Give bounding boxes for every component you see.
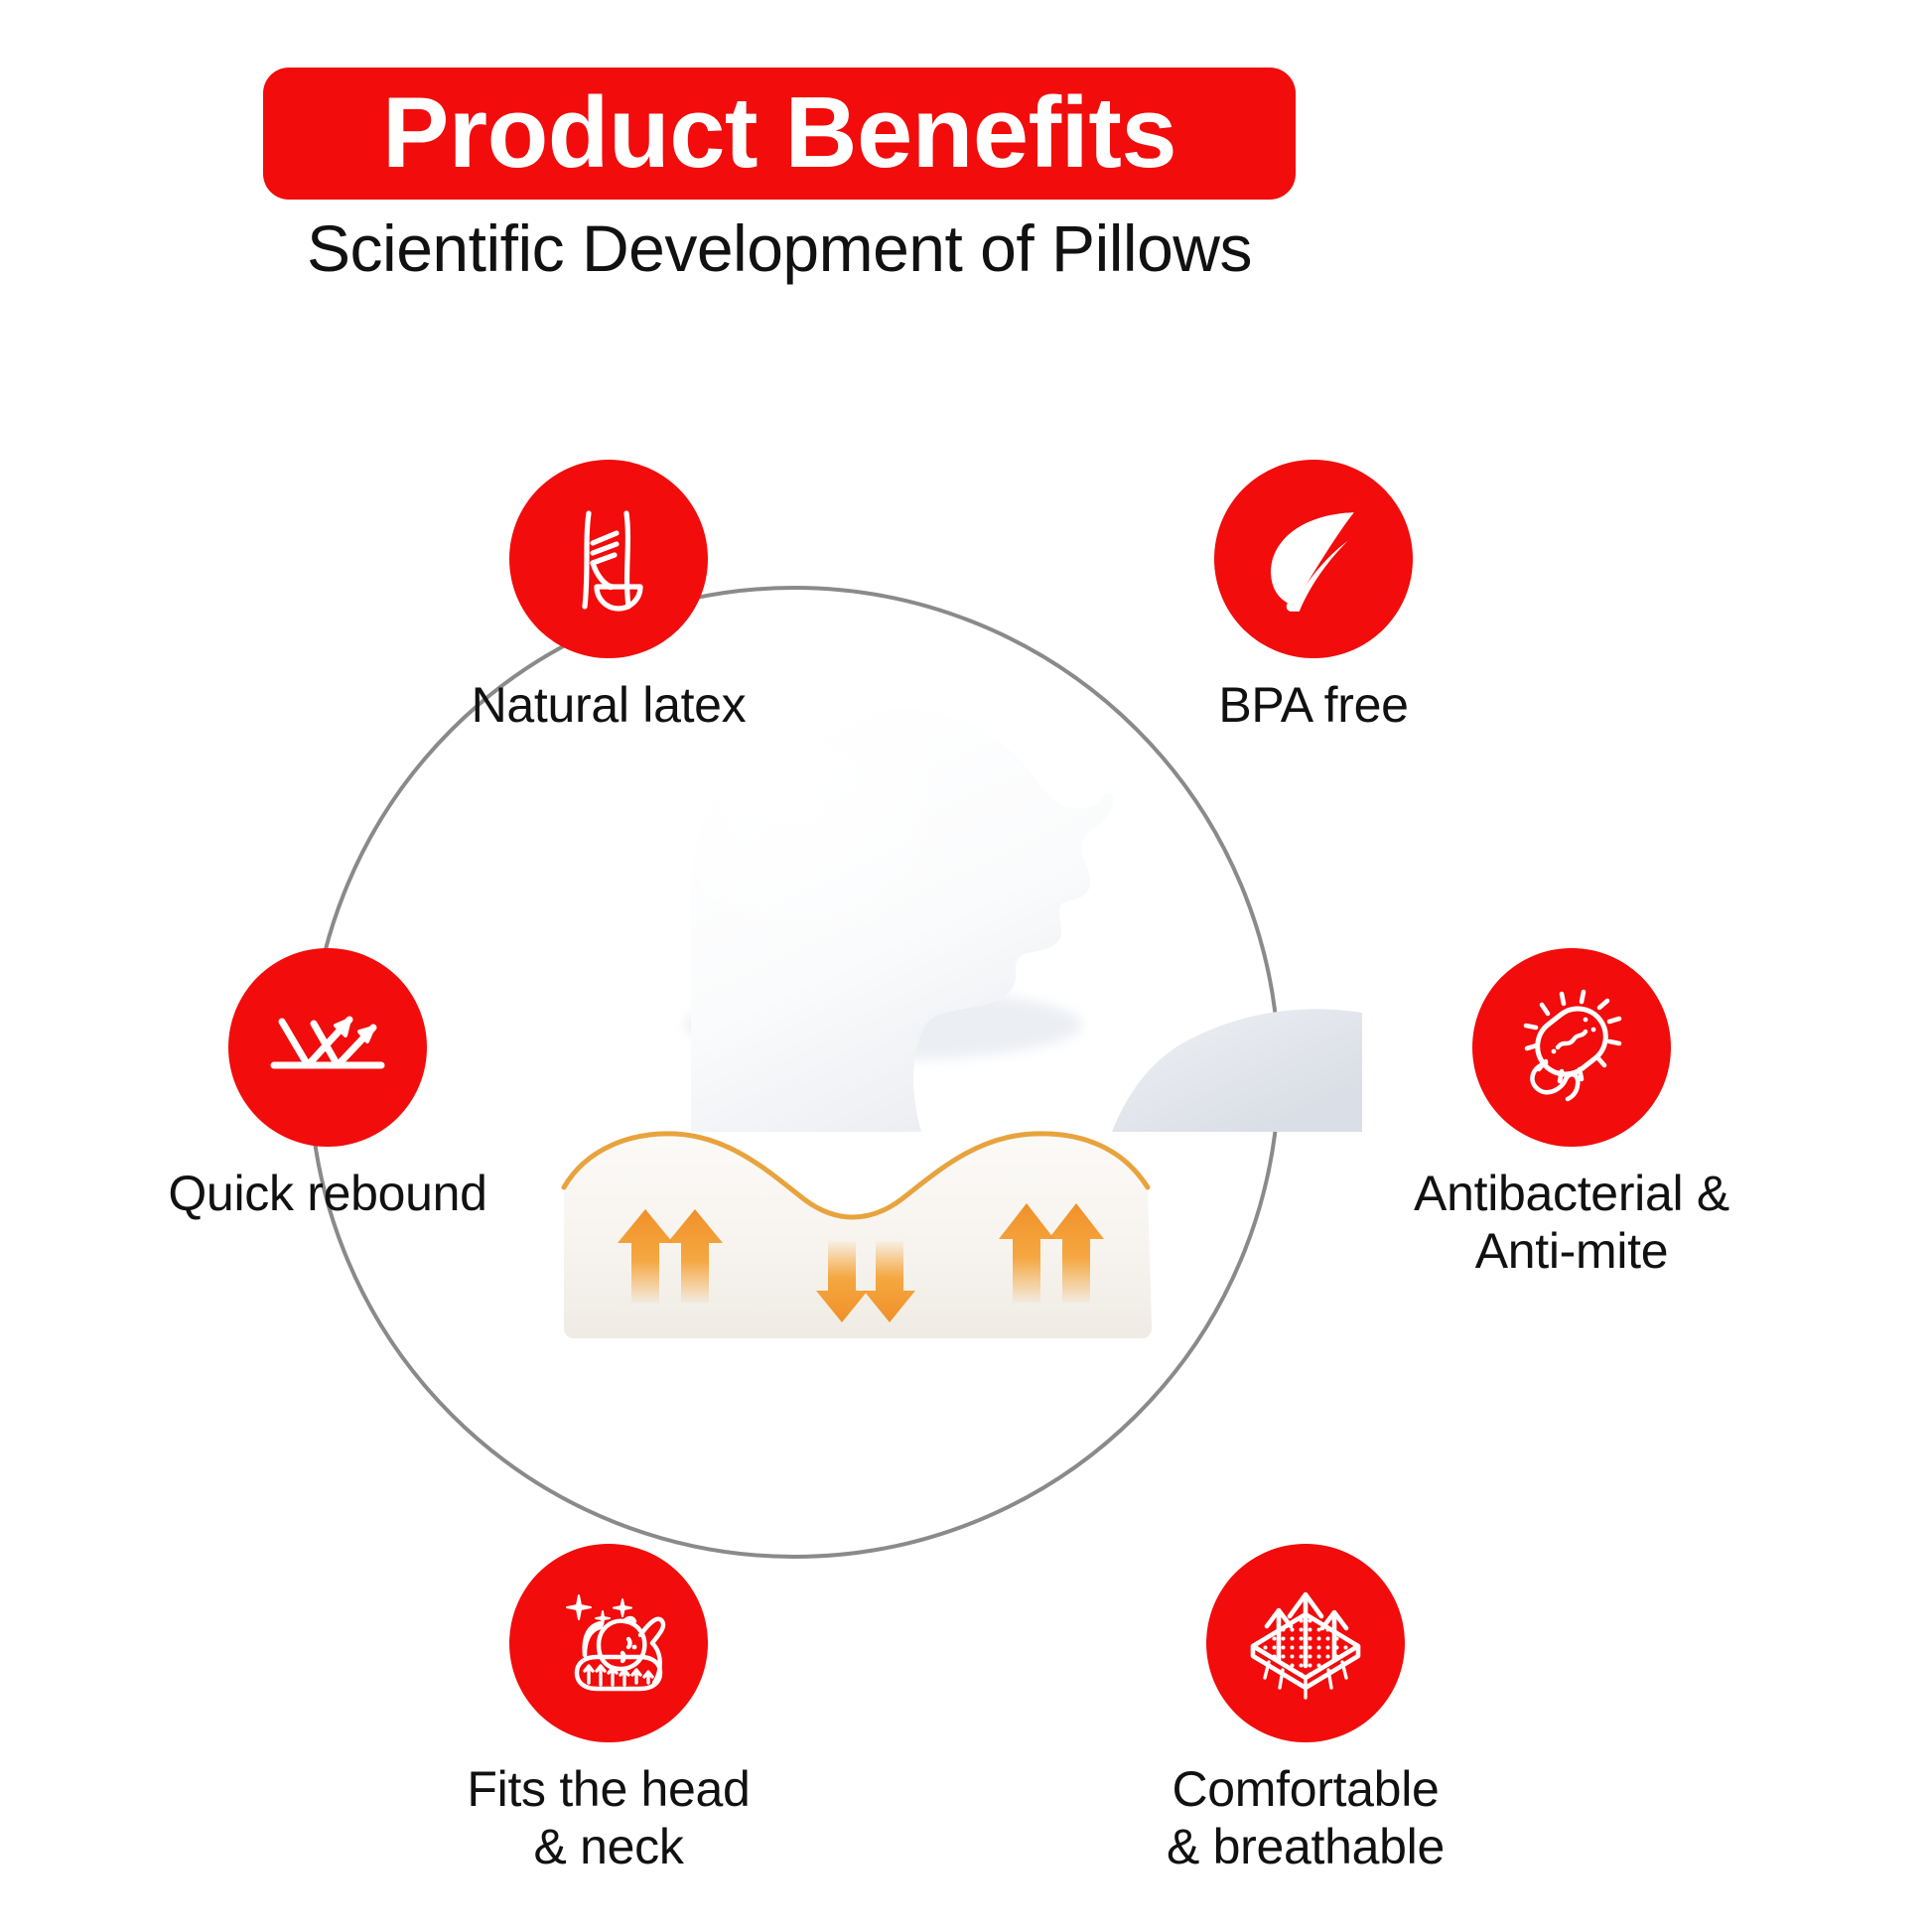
breathable-mesh-airflow-icon: [1243, 1581, 1368, 1706]
benefit-wheel: Natural latex BPA free: [0, 0, 1932, 1932]
sleeping-head-on-pillow-icon: [545, 1580, 672, 1707]
quick-rebound-bubble[interactable]: [228, 948, 427, 1147]
bpa-free-label: BPA free: [1055, 676, 1572, 734]
leaf-icon: [1253, 498, 1374, 620]
comfortable-breathable-label: Comfortable & breathable: [1047, 1760, 1564, 1875]
antibacterial-label: Antibacterial & Anti-mite: [1313, 1165, 1830, 1280]
bpa-free-bubble[interactable]: [1214, 460, 1413, 658]
infographic-root: Product Benefits Scientific Development …: [0, 0, 1932, 1932]
antibacterial-bubble[interactable]: [1472, 948, 1671, 1147]
fits-head-neck-label: Fits the head & neck: [350, 1760, 867, 1875]
rebound-arrows-icon: [266, 986, 389, 1109]
fits-head-neck-bubble[interactable]: [509, 1544, 708, 1742]
rubber-tree-tapping-icon: [549, 499, 668, 619]
natural-latex-label: Natural latex: [350, 676, 867, 734]
contour-pillow: [556, 1092, 1251, 1350]
comfortable-breathable-bubble[interactable]: [1206, 1544, 1405, 1742]
quick-rebound-label: Quick rebound: [69, 1165, 586, 1222]
bacteria-icon: [1510, 986, 1633, 1109]
natural-latex-bubble[interactable]: [509, 460, 708, 658]
